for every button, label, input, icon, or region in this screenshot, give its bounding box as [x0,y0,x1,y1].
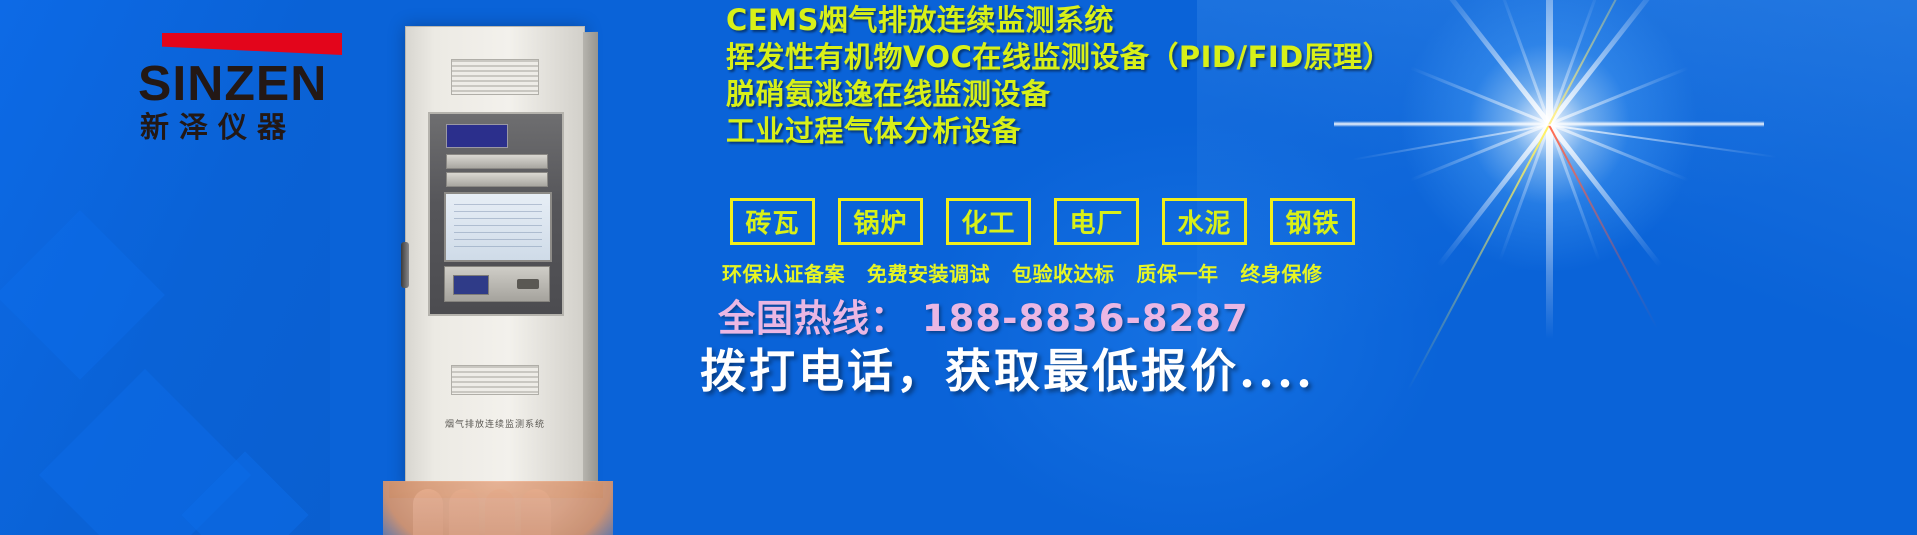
hotline-text[interactable]: 全国热线： 188-8836-8287 [718,288,1249,342]
category-box-guolu[interactable]: 锅炉 [838,198,923,245]
feature-item: 环保认证备案 [722,258,845,287]
headline-line-4: 工业过程气体分析设备 [726,113,1546,150]
category-box-gangtie[interactable]: 钢铁 [1270,198,1355,245]
cabinet-door-handle [401,242,409,288]
category-label: 砖瓦 [745,203,799,240]
category-label: 电厂 [1069,203,1123,240]
category-label: 钢铁 [1285,203,1339,240]
call-to-action-text: 拨打电话，获取最低报价.... [700,335,1315,401]
product-cabinet-image: 烟气排放连续监测系统 [405,26,600,506]
logo-wordmark: SINZEN [138,60,364,109]
category-label: 水泥 [1177,203,1231,240]
headline-line-1: CEMS烟气排放连续监测系统 [726,2,1546,39]
category-box-shuini[interactable]: 水泥 [1162,198,1247,245]
cabinet-inner-door [428,112,564,316]
hand-graphic [383,481,613,535]
cabinet-body: 烟气排放连续监测系统 [405,26,585,488]
cabinet-side-panel [583,32,598,484]
category-label: 锅炉 [853,203,907,240]
category-box-zhuanwa[interactable]: 砖瓦 [730,198,815,245]
category-label: 化工 [961,203,1015,240]
promotional-banner: SINZEN 新泽仪器 烟气排放连续监测系统 CEMS烟 [0,0,1917,535]
industry-category-list: 砖瓦 锅炉 化工 电厂 水泥 钢铁 [730,198,1355,245]
hand-finger [485,489,515,535]
cabinet-vent-bottom [451,365,539,395]
cabinet-module-strip [446,172,548,187]
feature-item: 终身保修 [1241,258,1323,287]
hand-finger [521,489,551,535]
feature-item: 质保一年 [1137,258,1219,287]
headline-line-3: 脱硝氨逃逸在线监测设备 [726,76,1546,113]
cabinet-caption: 烟气排放连续监测系统 [406,417,584,430]
hand-finger [413,489,443,535]
cabinet-control-panel [444,266,550,302]
feature-item: 包验收达标 [1012,258,1115,287]
cabinet-module-strip [446,154,548,169]
hand-finger [449,489,479,535]
cabinet-vent-top [451,59,539,95]
headline-group: CEMS烟气排放连续监测系统 挥发性有机物VOC在线监测设备（PID/FID原理… [726,2,1546,150]
category-box-diangchang[interactable]: 电厂 [1054,198,1139,245]
logo-chinese-name: 新泽仪器 [140,112,360,144]
cabinet-main-display [444,192,552,262]
brand-logo: SINZEN 新泽仪器 [138,33,360,144]
cabinet-small-display [446,124,508,148]
feature-item: 免费安装调试 [867,258,990,287]
feature-guarantee-list: 环保认证备案 免费安装调试 包验收达标 质保一年 终身保修 [722,258,1323,287]
headline-line-2: 挥发性有机物VOC在线监测设备（PID/FID原理） [726,39,1546,76]
category-box-huagong[interactable]: 化工 [946,198,1031,245]
logo-wedge-container [138,33,360,59]
red-wedge-icon [162,33,342,55]
